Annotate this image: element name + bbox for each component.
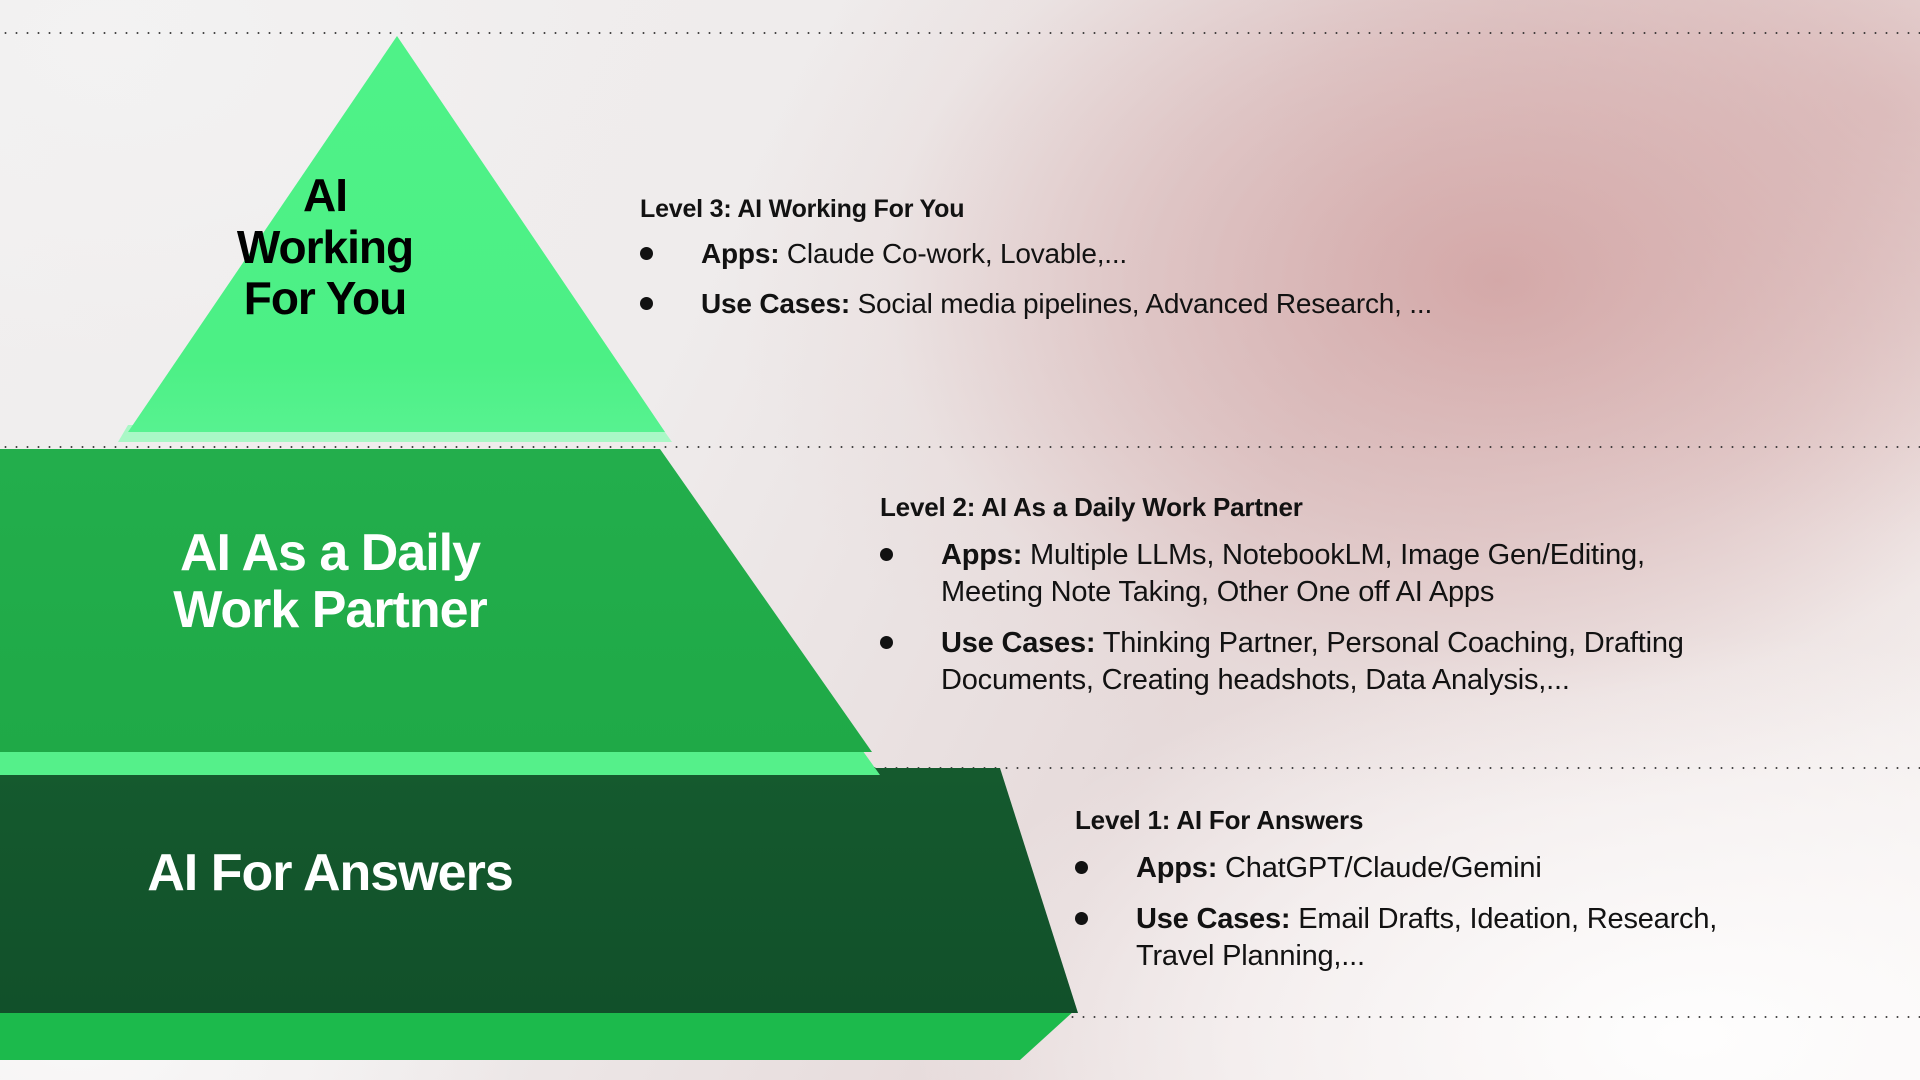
tier-1-edge (0, 1010, 1075, 1060)
level-1-usecases-label: Use Cases: (1136, 903, 1290, 935)
level-3-apps-text: Apps: Claude Co-work, Lovable,... (653, 236, 1127, 272)
level-3-bullet-usecases: Use Cases: Social media pipelines, Advan… (640, 286, 1540, 322)
level-1-bullet-apps: Apps: ChatGPT/Claude/Gemini (1075, 850, 1775, 887)
level-2-heading: Level 2: AI As a Daily Work Partner (880, 492, 1710, 523)
tier-3-face (128, 36, 665, 432)
level-1-apps-value: ChatGPT/Claude/Gemini (1217, 852, 1541, 884)
level-3-apps-label: Apps: (701, 238, 779, 269)
level-2-apps-label: Apps: (941, 539, 1022, 571)
slide-canvas: AI Working For You AI As a Daily Work Pa… (0, 0, 1920, 1080)
level-1-block: Level 1: AI For Answers Apps: ChatGPT/Cl… (1075, 805, 1775, 989)
level-2-usecases-text: Use Cases: Thinking Partner, Personal Co… (893, 625, 1710, 699)
level-2-bullet-apps: Apps: Multiple LLMs, NotebookLM, Image G… (880, 537, 1710, 611)
level-1-usecases-text: Use Cases: Email Drafts, Ideation, Resea… (1088, 901, 1775, 975)
level-2-bullet-usecases: Use Cases: Thinking Partner, Personal Co… (880, 625, 1710, 699)
tier-2-face (0, 449, 872, 752)
level-3-heading: Level 3: AI Working For You (640, 195, 1540, 224)
bullet-dot-icon (1075, 912, 1088, 925)
level-2-apps-value: Multiple LLMs, NotebookLM, Image Gen/Edi… (941, 539, 1645, 608)
level-3-bullet-apps: Apps: Claude Co-work, Lovable,... (640, 236, 1540, 272)
bullet-dot-icon (880, 548, 893, 561)
level-1-heading: Level 1: AI For Answers (1075, 805, 1775, 836)
tier-1-face (0, 768, 1078, 1013)
level-1-apps-label: Apps: (1136, 852, 1217, 884)
level-1-apps-text: Apps: ChatGPT/Claude/Gemini (1088, 850, 1542, 887)
bullet-dot-icon (880, 636, 893, 649)
bullet-dot-icon (640, 247, 653, 260)
bullet-dot-icon (1075, 861, 1088, 874)
level-2-apps-text: Apps: Multiple LLMs, NotebookLM, Image G… (893, 537, 1710, 611)
level-3-block: Level 3: AI Working For You Apps: Claude… (640, 195, 1540, 336)
level-1-bullet-usecases: Use Cases: Email Drafts, Ideation, Resea… (1075, 901, 1775, 975)
level-3-usecases-value: Social media pipelines, Advanced Researc… (850, 288, 1432, 319)
level-3-usecases-label: Use Cases: (701, 288, 850, 319)
level-3-usecases-text: Use Cases: Social media pipelines, Advan… (653, 286, 1432, 322)
level-2-usecases-label: Use Cases: (941, 627, 1095, 659)
bullet-dot-icon (640, 297, 653, 310)
level-2-block: Level 2: AI As a Daily Work Partner Apps… (880, 492, 1710, 713)
level-3-apps-value: Claude Co-work, Lovable,... (779, 238, 1127, 269)
